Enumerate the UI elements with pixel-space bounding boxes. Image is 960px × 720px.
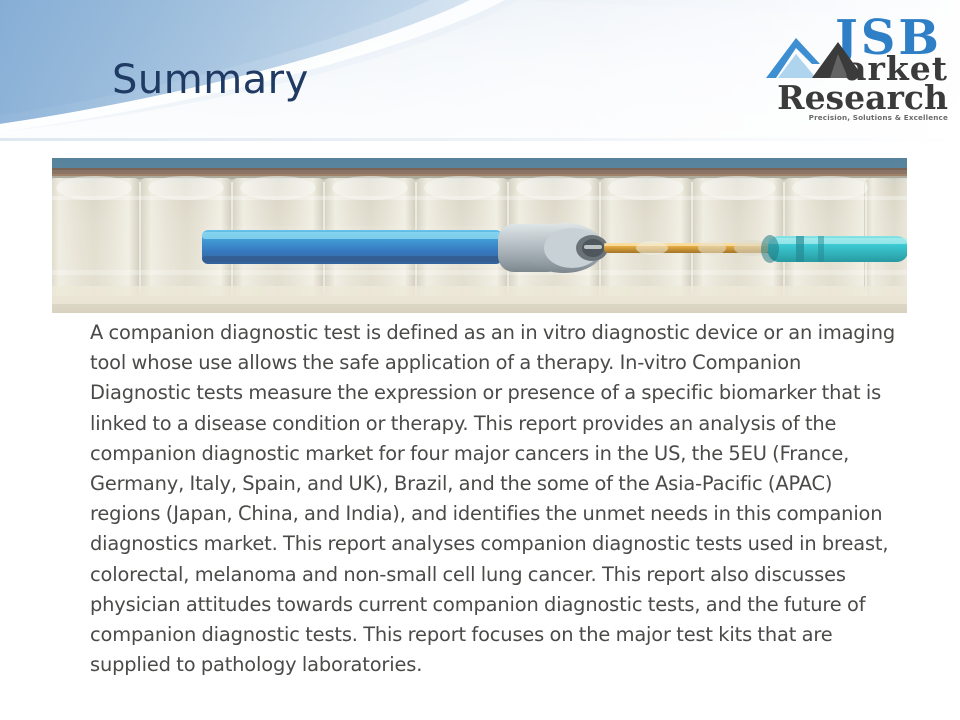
jsb-market-research-logo: JSB arket Research Precision, Solutions …: [760, 4, 952, 122]
slide-header: Summary JSB arket Research Precision, S: [0, 0, 960, 138]
header-divider-rule: [0, 138, 960, 141]
logo-tagline: Precision, Solutions & Excellence: [809, 113, 948, 122]
page-title: Summary: [112, 60, 309, 100]
laboratory-vials-and-syringe-photo: [52, 158, 907, 313]
slide-canvas: Summary JSB arket Research Precision, S: [0, 0, 960, 720]
summary-paragraph: A companion diagnostic test is defined a…: [90, 318, 900, 680]
hero-image-frame: [52, 158, 907, 313]
logo-research-text: Research: [777, 78, 948, 117]
